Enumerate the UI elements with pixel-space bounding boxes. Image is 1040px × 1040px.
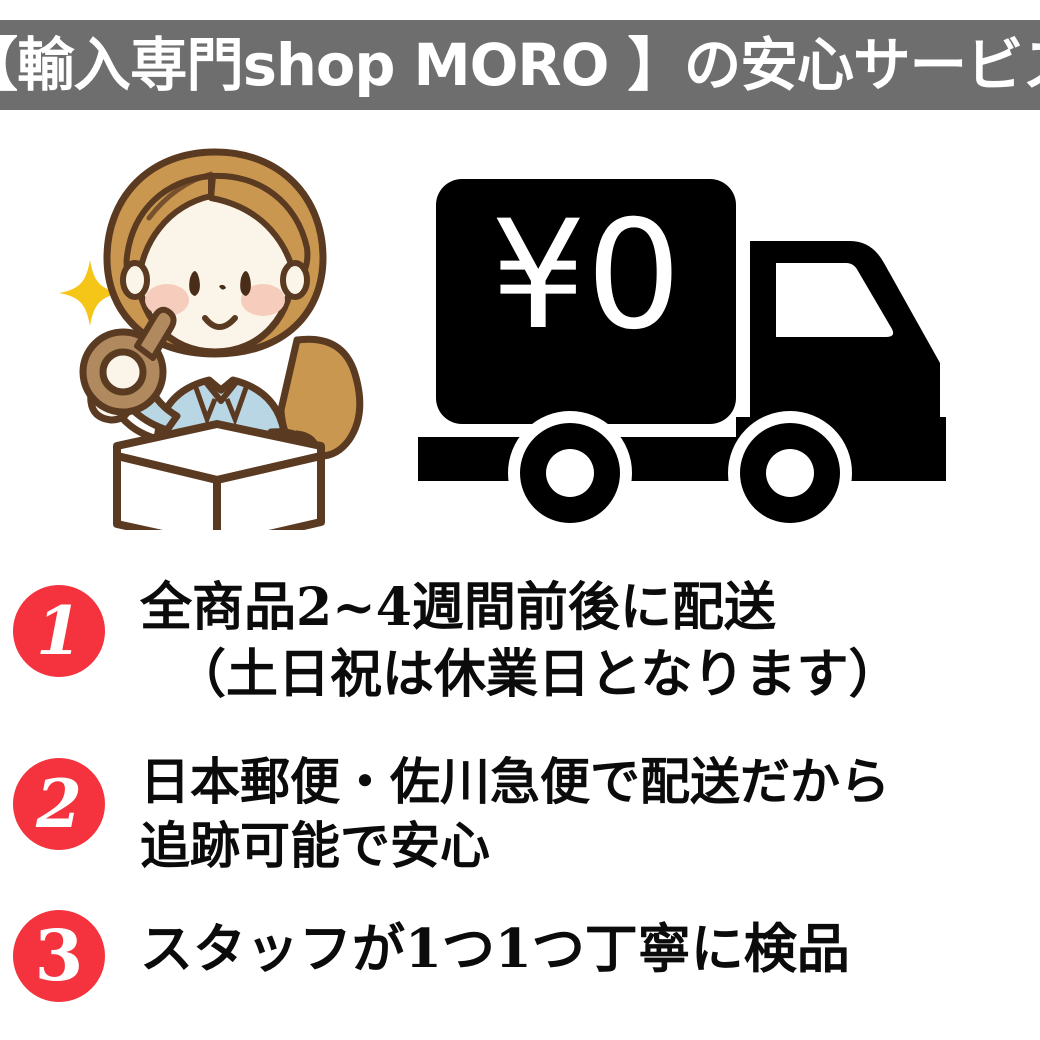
service-text-3: スタッフが1つ1つ丁寧に検品 xyxy=(140,916,850,984)
service-2-line-1: 日本郵便・佐川急便で配送だから xyxy=(140,750,890,814)
delivery-truck-icon: ¥0 xyxy=(418,155,978,530)
service-badge-2: 2 xyxy=(13,758,105,850)
service-badge-1: 1 xyxy=(13,585,105,677)
illustration-row: ¥0 xyxy=(0,115,1040,540)
service-2-line-2: 追跡可能で安心 xyxy=(140,814,890,878)
service-1-line-2: （土日祝は休業日となります） xyxy=(140,642,900,709)
service-item-1: 1 全商品2~4週間前後に配送 （土日祝は休業日となります） xyxy=(0,575,1040,735)
service-text-1: 全商品2~4週間前後に配送 （土日祝は休業日となります） xyxy=(140,575,900,708)
woman-inspecting-package-icon xyxy=(45,140,395,530)
service-text-2: 日本郵便・佐川急便で配送だから 追跡可能で安心 xyxy=(140,750,890,878)
page-title: 【輸入専門shop MORO 】の安心サービス xyxy=(0,36,1040,94)
service-item-3: 3 スタッフが1つ1つ丁寧に検品 xyxy=(0,908,1040,1018)
service-1-line-1: 全商品2~4週間前後に配送 xyxy=(140,575,900,642)
magnifying-glass-icon xyxy=(83,310,174,412)
service-badge-3: 3 xyxy=(13,910,105,1002)
header-banner: 【輸入専門shop MORO 】の安心サービス xyxy=(0,20,1040,110)
package-box-icon xyxy=(117,424,321,530)
service-list: 1 全商品2~4週間前後に配送 （土日祝は休業日となります） 2 日本郵便・佐川… xyxy=(0,545,1040,1040)
service-item-2: 2 日本郵便・佐川急便で配送だから 追跡可能で安心 xyxy=(0,750,1040,905)
truck-cargo-label: ¥0 xyxy=(491,189,682,363)
service-3-line-1: スタッフが1つ1つ丁寧に検品 xyxy=(140,916,850,984)
